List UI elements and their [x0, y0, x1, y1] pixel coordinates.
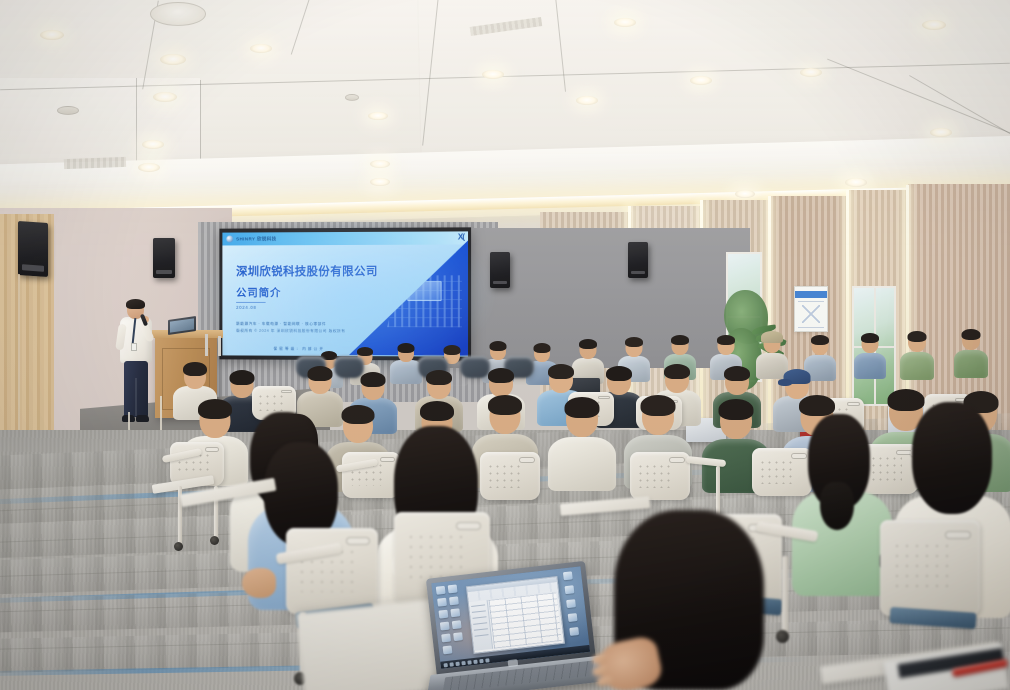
desktop-icon: [436, 586, 446, 595]
downlight-icon: [845, 178, 867, 187]
presentation-slide: SHINRY 欣锐科技 X( 深圳欣锐科技股份有限公司 公司简介 2024.08…: [222, 231, 468, 356]
slide-header-bar: SHINRY 欣锐科技: [222, 231, 468, 245]
ceiling-sensor-icon: [345, 94, 359, 101]
slide-brand-mark: X(: [458, 232, 464, 241]
desktop-icon: [569, 627, 579, 636]
taskbar-icon[interactable]: [467, 660, 471, 664]
projection-screen: SHINRY 欣锐科技 X( 深圳欣锐科技股份有限公司 公司简介 2024.08…: [219, 227, 471, 360]
podium-support: [218, 336, 221, 356]
downlight-icon: [138, 163, 160, 172]
desktop-icon: [448, 584, 458, 593]
slide-meta-line-1: 新能源汽车 · 车载电源 · 智能网联 · 核心零部件: [236, 322, 326, 327]
chair-caster: [174, 542, 183, 551]
taskbar-icon[interactable]: [461, 660, 465, 664]
taskbar-icon[interactable]: [473, 659, 477, 663]
presenter-hair: [126, 299, 145, 309]
poster-graphic: [802, 305, 820, 323]
chair-front-row: [880, 520, 980, 616]
slide-title: 深圳欣锐科技股份有限公司: [236, 263, 378, 279]
desktop-icon: [453, 632, 463, 641]
wall-poster: [794, 286, 828, 332]
desktop-icon: [565, 585, 575, 594]
downlight-icon: [370, 160, 390, 168]
desktop-icon: [563, 571, 573, 580]
laptop-brand-logo: [508, 659, 519, 667]
downlight-icon: [368, 112, 388, 120]
wall-speaker-stage-left: [153, 238, 175, 278]
slide-triangle-graphic: [349, 240, 468, 355]
downlight-icon: [922, 20, 946, 30]
desktop-icon: [566, 599, 576, 608]
downlight-icon: [250, 44, 272, 53]
ceiling-vent-icon: [57, 106, 79, 115]
downlight-icon: [40, 30, 64, 40]
downlight-icon: [800, 68, 822, 77]
slide-date: 2024.08: [236, 305, 256, 310]
downlight-icon: [160, 54, 186, 65]
desktop-icon: [437, 598, 447, 607]
downlight-icon: [690, 76, 712, 85]
wall-speaker-right: [628, 242, 648, 278]
desktop-icon: [450, 608, 460, 617]
presenter-badge: [131, 343, 137, 351]
desktop-icon: [449, 596, 459, 605]
conference-room-photo: SHINRY 欣锐科技 X( 深圳欣锐科技股份有限公司 公司简介 2024.08…: [0, 0, 1010, 690]
chair: [630, 452, 690, 500]
downlight-icon: [614, 18, 636, 27]
downlight-icon: [576, 96, 598, 105]
desktop-icon: [443, 645, 453, 654]
podium-support: [205, 334, 208, 356]
cap-brim: [778, 379, 792, 386]
taskbar-icon[interactable]: [479, 658, 483, 662]
downlight-icon: [370, 178, 390, 186]
chair-caster: [210, 536, 219, 545]
ceiling-speaker-icon: [150, 2, 206, 26]
presenter-leg-split: [135, 378, 137, 416]
desktop-icon: [440, 622, 450, 631]
taskbar-icon[interactable]: [449, 662, 453, 666]
wall-speaker-left: [18, 221, 48, 277]
slide-divider: [236, 302, 266, 303]
company-logo-icon: [226, 236, 233, 243]
laptop-screen: [431, 566, 590, 668]
taskbar-icon[interactable]: [443, 663, 447, 667]
desktop-icon: [438, 610, 448, 619]
bucket-hat: [761, 331, 783, 343]
chair-front-row: [286, 528, 378, 614]
taskbar-icon[interactable]: [455, 661, 459, 665]
audience-member-green-top: [786, 418, 892, 598]
wall-speaker-stage-right: [490, 252, 510, 288]
downlight-icon: [482, 70, 504, 79]
slide-subtitle: 公司简介: [236, 285, 281, 300]
downlight-icon: [142, 140, 164, 149]
desktop-icon: [452, 620, 462, 629]
downlight-icon: [153, 92, 177, 102]
taskbar-icon[interactable]: [485, 658, 489, 662]
desktop-icon: [441, 634, 451, 643]
slide-meta-line-2: 版权所有 © 2024 年 深圳欣锐科技股份有限公司 版权所有: [236, 329, 345, 334]
downlight-icon: [930, 128, 952, 137]
desktop-icon: [568, 613, 578, 622]
poster-header-band: [795, 291, 827, 298]
spreadsheet-grid[interactable]: [489, 592, 562, 648]
presenter: [116, 300, 156, 428]
chair-leg: [782, 556, 788, 636]
downlight-icon: [735, 190, 755, 198]
slide-product-chip: [407, 281, 441, 301]
company-logo-text: SHINRY 欣锐科技: [236, 236, 277, 242]
spreadsheet-window[interactable]: [466, 576, 565, 654]
